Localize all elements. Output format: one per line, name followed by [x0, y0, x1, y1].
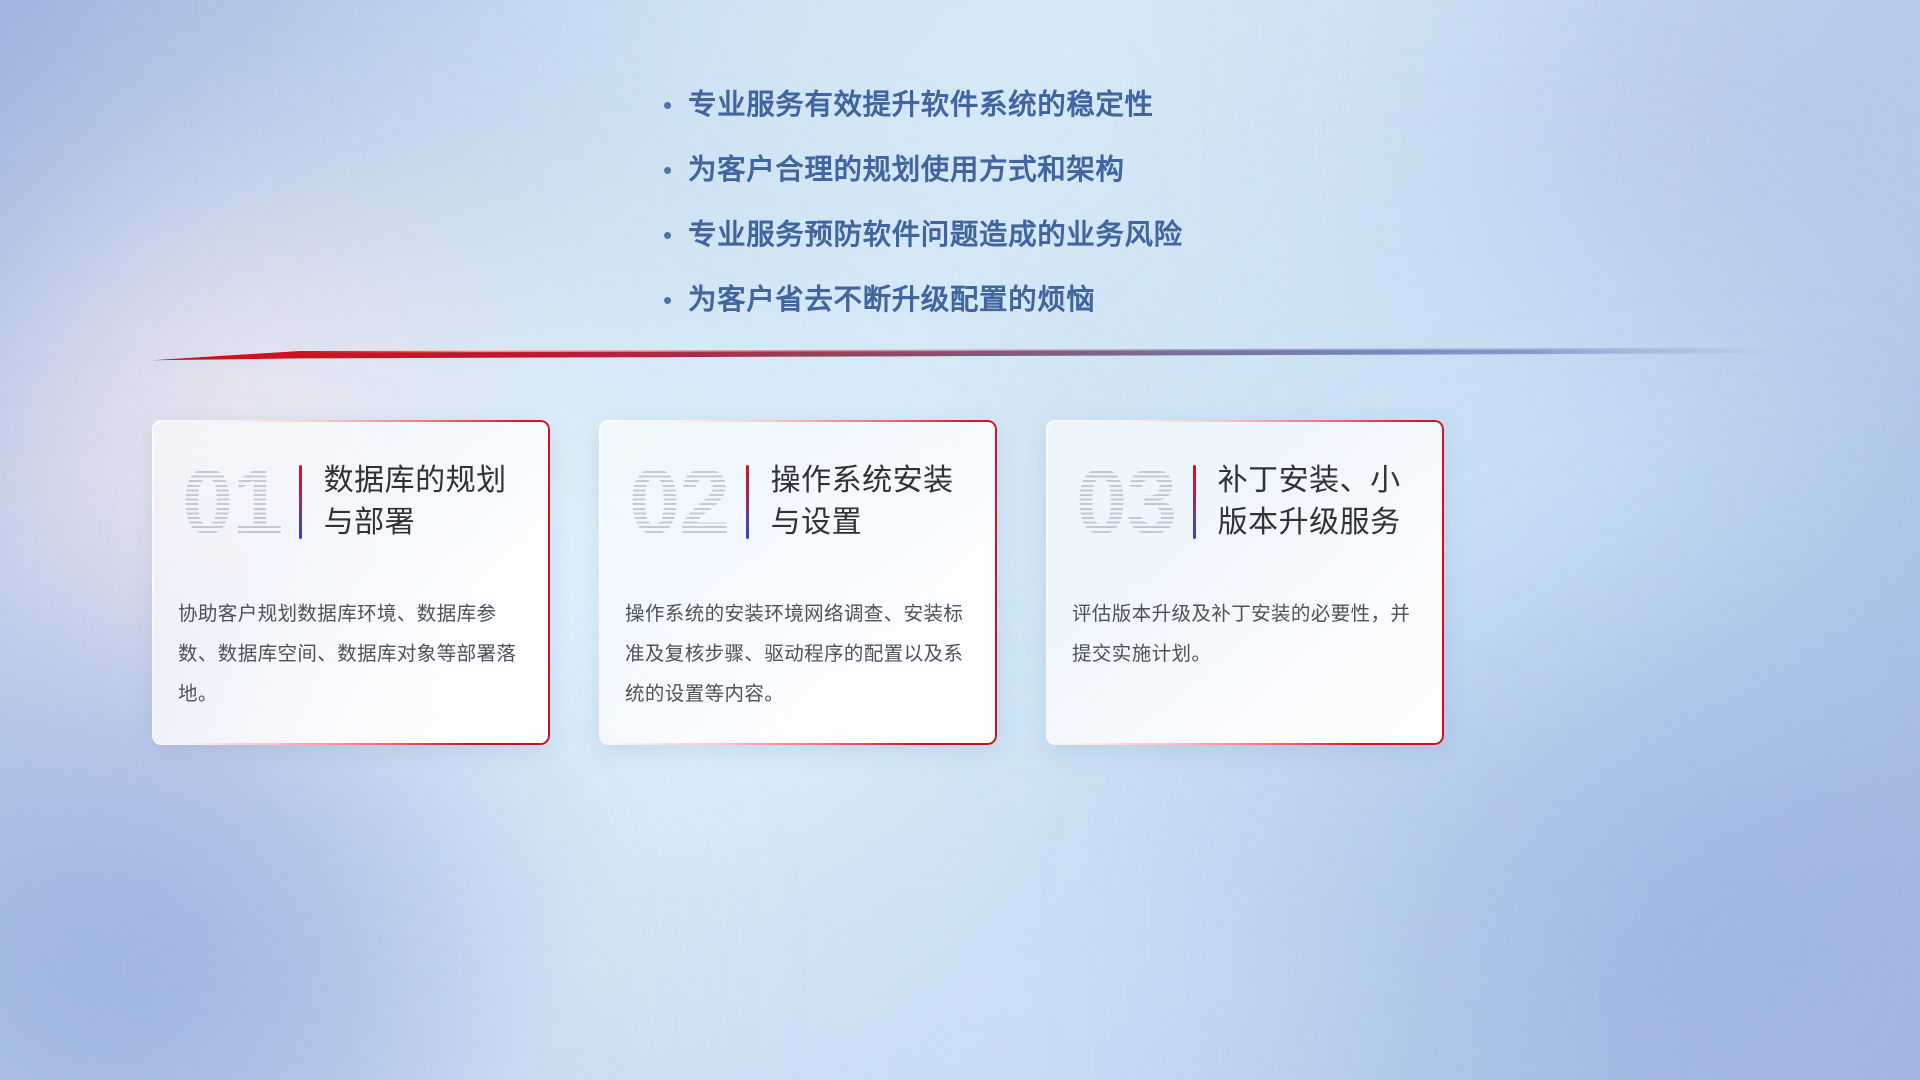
card-description: 协助客户规划数据库环境、数据库参数、数据库空间、数据库对象等部署落地。 — [178, 594, 524, 714]
card-title-line-1: 补丁安装、小 — [1218, 460, 1401, 502]
card-title-line-1: 操作系统安装 — [771, 460, 954, 502]
section-divider — [150, 338, 1790, 370]
bullet-label: 为客户合理的规划使用方式和架构 — [688, 153, 1125, 187]
card-header: 03 补丁安装、小 版本升级服务 — [1072, 448, 1418, 556]
card-title-divider — [746, 465, 749, 539]
list-item: • 为客户合理的规划使用方式和架构 — [660, 153, 1420, 218]
card-title-line-2: 与设置 — [771, 502, 954, 544]
benefit-bullet-list: • 专业服务有效提升软件系统的稳定性 • 为客户合理的规划使用方式和架构 • 专… — [660, 88, 1420, 348]
bullet-label: 专业服务预防软件问题造成的业务风险 — [688, 218, 1183, 252]
service-card-01[interactable]: 01 数据库的规划 与部署 协助客户规划数据库环境、数据库参数、数据库空间、数据… — [152, 420, 550, 745]
bullet-point-icon: • — [660, 218, 688, 252]
card-header: 02 操作系统安装 与设置 — [625, 448, 971, 556]
divider-shape — [150, 338, 1790, 370]
card-title-line-2: 版本升级服务 — [1218, 502, 1401, 544]
card-title-divider — [1193, 465, 1196, 539]
card-description: 评估版本升级及补丁安装的必要性，并提交实施计划。 — [1072, 594, 1418, 674]
bullet-point-icon: • — [660, 283, 688, 317]
list-item: • 专业服务预防软件问题造成的业务风险 — [660, 218, 1420, 283]
card-title-divider — [299, 465, 302, 539]
bullet-point-icon: • — [660, 88, 688, 122]
service-card-03[interactable]: 03 补丁安装、小 版本升级服务 评估版本升级及补丁安装的必要性，并提交实施计划… — [1046, 420, 1444, 745]
card-title-line-1: 数据库的规划 — [324, 460, 507, 502]
bullet-point-icon: • — [660, 153, 688, 187]
card-description: 操作系统的安装环境网络调查、安装标准及复核步骤、驱动程序的配置以及系统的设置等内… — [625, 594, 971, 714]
card-number-02: 02 — [625, 448, 740, 556]
card-title-line-2: 与部署 — [324, 502, 507, 544]
card-title: 数据库的规划 与部署 — [324, 460, 507, 544]
list-item: • 专业服务有效提升软件系统的稳定性 — [660, 88, 1420, 153]
card-number-03: 03 — [1072, 448, 1187, 556]
service-card-row: 01 数据库的规划 与部署 协助客户规划数据库环境、数据库参数、数据库空间、数据… — [152, 420, 1792, 750]
card-title: 补丁安装、小 版本升级服务 — [1218, 460, 1401, 544]
card-header: 01 数据库的规划 与部署 — [178, 448, 524, 556]
card-title: 操作系统安装 与设置 — [771, 460, 954, 544]
bullet-label: 专业服务有效提升软件系统的稳定性 — [688, 88, 1154, 122]
card-number-01: 01 — [178, 448, 293, 556]
service-card-02[interactable]: 02 操作系统安装 与设置 操作系统的安装环境网络调查、安装标准及复核步骤、驱动… — [599, 420, 997, 745]
bullet-label: 为客户省去不断升级配置的烦恼 — [688, 283, 1095, 317]
